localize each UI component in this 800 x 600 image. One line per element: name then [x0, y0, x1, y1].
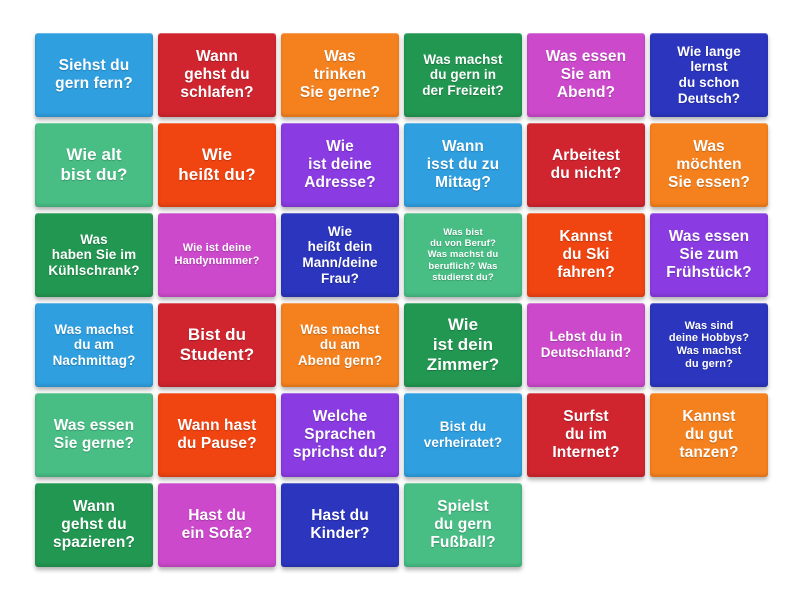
question-tile-label: Was möchten Sie essen?	[655, 138, 763, 192]
question-tile-label: Was bist du von Beruf? Was machst du ber…	[409, 227, 517, 282]
question-tile[interactable]: Was machst du am Abend gern?	[281, 303, 399, 387]
question-tile[interactable]: Wie heißt du?	[158, 123, 276, 207]
question-tile-label: Wie heißt dein Mann/deine Frau?	[286, 224, 394, 287]
question-tile[interactable]: Spielst du gern Fußball?	[404, 483, 522, 567]
question-tile-label: Was trinken Sie gerne?	[286, 48, 394, 102]
question-tile[interactable]: Was essen Sie am Abend?	[527, 33, 645, 117]
question-tile-label: Was machst du gern in der Freizeit?	[409, 52, 517, 99]
question-tile[interactable]: Was sind deine Hobbys? Was machst du ger…	[650, 303, 768, 387]
question-tile-label: Wie lange lernst du schon Deutsch?	[655, 44, 763, 107]
question-tile-label: Was haben Sie im Kühlschrank?	[40, 232, 148, 279]
question-tile-label: Was essen Sie am Abend?	[532, 48, 640, 102]
question-tile[interactable]: Bist du Student?	[158, 303, 276, 387]
tile-grid: Siehst du gern fern?Wann gehst du schlaf…	[35, 33, 758, 567]
question-tile-label: Surfst du im Internet?	[532, 408, 640, 462]
question-tile-label: Wann gehst du schlafen?	[163, 48, 271, 102]
question-tile[interactable]: Bist du verheiratet?	[404, 393, 522, 477]
question-tile[interactable]: Was machst du gern in der Freizeit?	[404, 33, 522, 117]
question-tile[interactable]: Wann gehst du spazieren?	[35, 483, 153, 567]
question-tile-label: Hast du ein Sofa?	[163, 507, 271, 543]
question-tile-label: Spielst du gern Fußball?	[409, 498, 517, 552]
question-tile[interactable]: Wie lange lernst du schon Deutsch?	[650, 33, 768, 117]
question-tile-label: Bist du Student?	[163, 325, 271, 364]
question-tile[interactable]: Wann gehst du schlafen?	[158, 33, 276, 117]
question-tile-label: Kannst du gut tanzen?	[655, 408, 763, 462]
question-tile-label: Siehst du gern fern?	[40, 57, 148, 93]
question-tile[interactable]: Siehst du gern fern?	[35, 33, 153, 117]
question-tile-label: Hast du Kinder?	[286, 507, 394, 543]
question-tile[interactable]: Kannst du Ski fahren?	[527, 213, 645, 297]
question-tile-label: Wie ist deine Adresse?	[286, 138, 394, 192]
question-tile-label: Welche Sprachen sprichst du?	[286, 408, 394, 462]
question-tile-label: Was essen Sie gerne?	[40, 417, 148, 453]
question-tile-label: Lebst du in Deutschland?	[532, 329, 640, 360]
question-tile[interactable]: Hast du Kinder?	[281, 483, 399, 567]
question-tile[interactable]: Wie ist dein Zimmer?	[404, 303, 522, 387]
question-tile[interactable]: Was möchten Sie essen?	[650, 123, 768, 207]
question-tile[interactable]: Wie alt bist du?	[35, 123, 153, 207]
question-tile-label: Wann hast du Pause?	[163, 417, 271, 453]
question-tile-label: Arbeitest du nicht?	[532, 147, 640, 183]
question-tile[interactable]: Welche Sprachen sprichst du?	[281, 393, 399, 477]
question-tile[interactable]: Was trinken Sie gerne?	[281, 33, 399, 117]
question-tile-label: Wann isst du zu Mittag?	[409, 138, 517, 192]
question-tile-label: Wie ist deine Handynummer?	[163, 242, 271, 268]
question-tile-label: Was essen Sie zum Frühstück?	[655, 228, 763, 282]
question-tile[interactable]: Wann isst du zu Mittag?	[404, 123, 522, 207]
question-tile-label: Wie heißt du?	[163, 145, 271, 184]
question-tile[interactable]: Arbeitest du nicht?	[527, 123, 645, 207]
question-tile[interactable]: Lebst du in Deutschland?	[527, 303, 645, 387]
question-tile[interactable]: Wie ist deine Handynummer?	[158, 213, 276, 297]
question-tile-label: Bist du verheiratet?	[409, 419, 517, 450]
question-tile-label: Kannst du Ski fahren?	[532, 228, 640, 282]
question-tile-label: Was sind deine Hobbys? Was machst du ger…	[655, 320, 763, 371]
question-tile[interactable]: Was bist du von Beruf? Was machst du ber…	[404, 213, 522, 297]
question-tile[interactable]: Was essen Sie zum Frühstück?	[650, 213, 768, 297]
question-tile[interactable]: Was haben Sie im Kühlschrank?	[35, 213, 153, 297]
question-tile[interactable]: Hast du ein Sofa?	[158, 483, 276, 567]
question-tile-label: Was machst du am Abend gern?	[286, 322, 394, 369]
question-tile-label: Wie alt bist du?	[40, 145, 148, 184]
question-tile[interactable]: Was machst du am Nachmittag?	[35, 303, 153, 387]
question-tile[interactable]: Wann hast du Pause?	[158, 393, 276, 477]
question-tile[interactable]: Wie ist deine Adresse?	[281, 123, 399, 207]
question-tile-label: Wann gehst du spazieren?	[40, 498, 148, 552]
question-tile-label: Was machst du am Nachmittag?	[40, 322, 148, 369]
question-tile-label: Wie ist dein Zimmer?	[409, 315, 517, 374]
question-tile[interactable]: Kannst du gut tanzen?	[650, 393, 768, 477]
tile-board: Siehst du gern fern?Wann gehst du schlaf…	[0, 0, 800, 600]
question-tile[interactable]: Surfst du im Internet?	[527, 393, 645, 477]
question-tile[interactable]: Was essen Sie gerne?	[35, 393, 153, 477]
question-tile[interactable]: Wie heißt dein Mann/deine Frau?	[281, 213, 399, 297]
